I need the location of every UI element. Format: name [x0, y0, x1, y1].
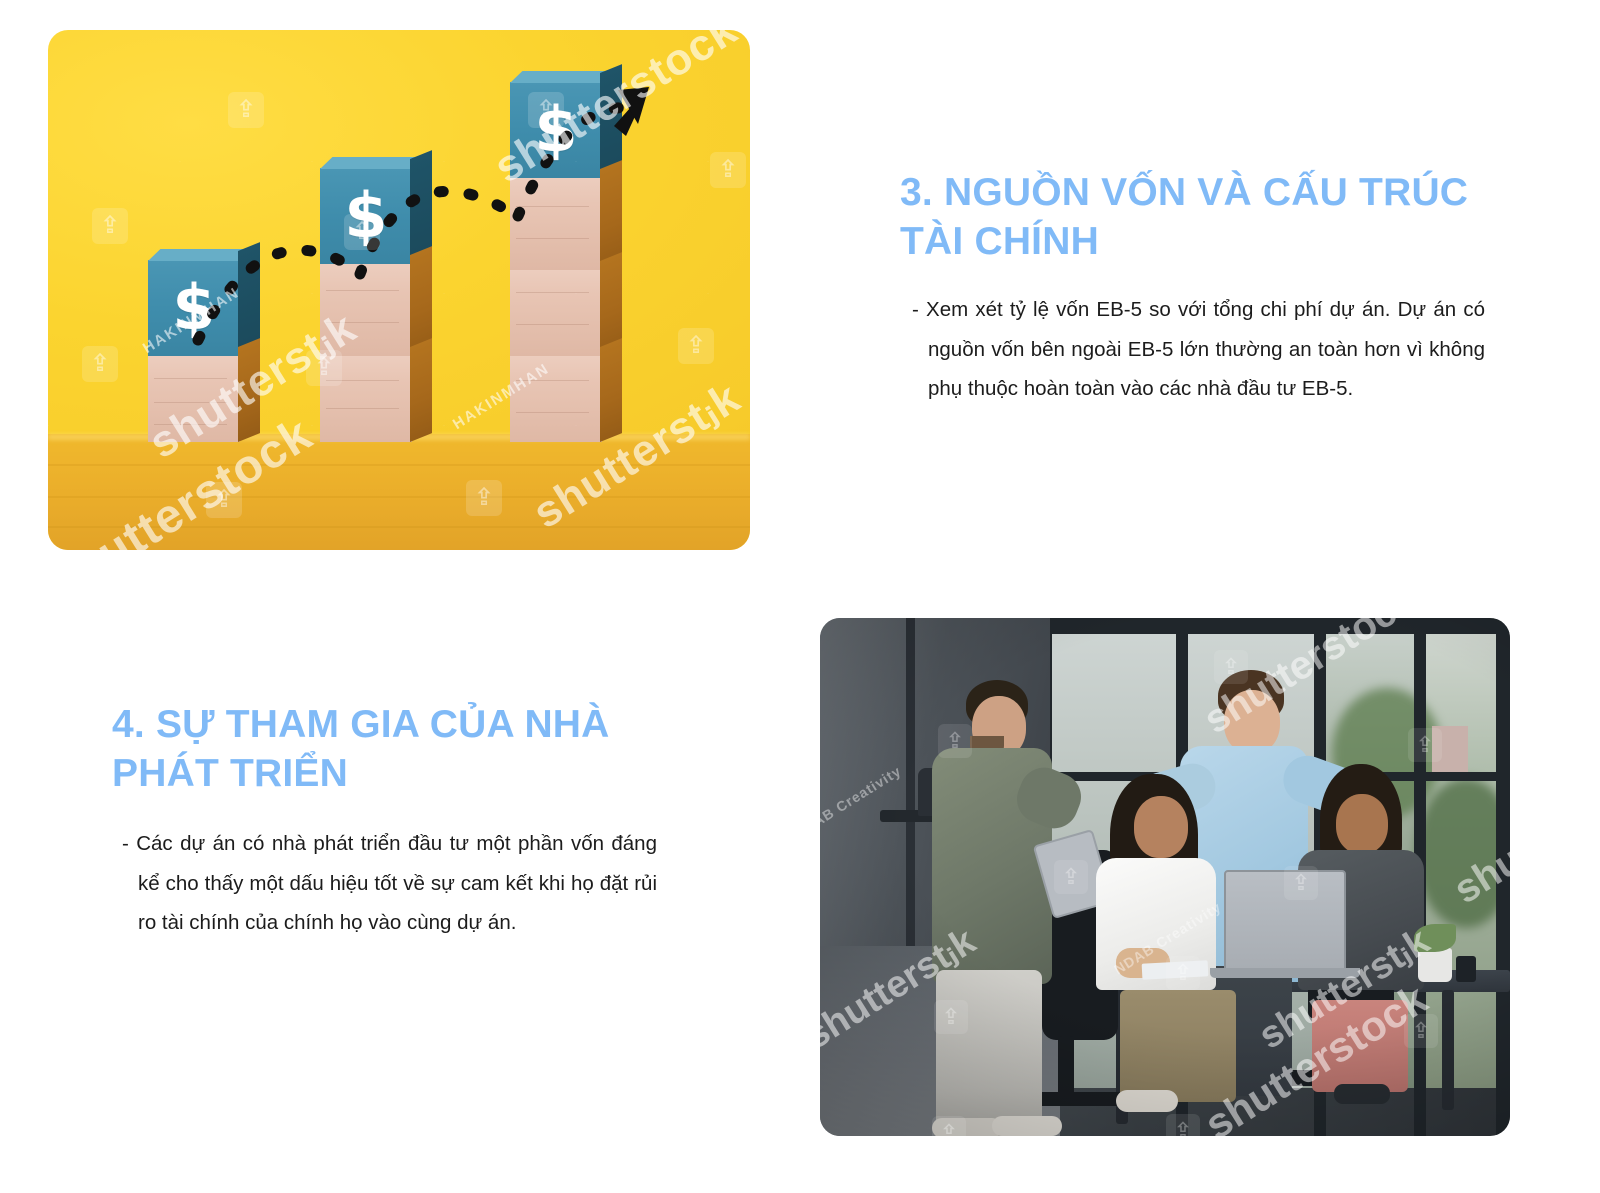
- section-4-heading: 4. SỰ THAM GIA CỦA NHÀ PHÁT TRIỂN: [112, 700, 657, 798]
- office-team-photo: ⇪ ⇪ ⇪ ⇪ ⇪ ⇪ ⇪ ⇪ ⇪ ⇪ NDAB Creativity NDAB…: [820, 618, 1510, 1136]
- section-4-text-block: 4. SỰ THAM GIA CỦA NHÀ PHÁT TRIỂN - Các …: [112, 700, 657, 963]
- section-3-heading: 3. NGUỒN VỐN VÀ CẤU TRÚC TÀI CHÍNH: [900, 168, 1485, 266]
- slide-canvas: $ $ $: [0, 0, 1600, 1193]
- section-4-body-wrap: - Các dự án có nhà phát triển đầu tư một…: [112, 824, 657, 942]
- blocks-photo: $ $ $: [48, 30, 750, 550]
- dashed-growth-arrow-icon: [48, 30, 750, 550]
- section-3-text-block: 3. NGUỒN VỐN VÀ CẤU TRÚC TÀI CHÍNH - Xem…: [900, 168, 1485, 429]
- section-3-body: - Xem xét tỷ lệ vốn EB-5 so với tổng chi…: [912, 290, 1485, 408]
- section-3-body-wrap: - Xem xét tỷ lệ vốn EB-5 so với tổng chi…: [900, 290, 1485, 408]
- section-4-body: - Các dự án có nhà phát triển đầu tư một…: [122, 824, 657, 942]
